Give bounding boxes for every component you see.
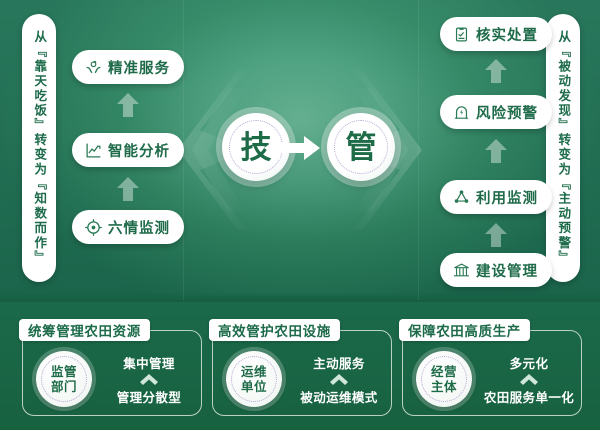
- bottom-box-circle[interactable]: 经营 主体: [416, 351, 472, 407]
- bottom-box-transition: 集中管理 管理分散型: [101, 351, 197, 407]
- card-smart-analysis[interactable]: 智能分析: [72, 133, 184, 167]
- bottom-box-production: 保障农田高质生产 经营 主体 多元化 农田服务单一化: [402, 330, 582, 416]
- hands-plant-icon: [85, 59, 102, 76]
- card-label: 风险预警: [476, 102, 538, 123]
- banner-left-text: 从『靠天吃饭』转变为『知数而作』: [33, 30, 46, 265]
- section-divider: [0, 292, 600, 302]
- target-icon: [85, 219, 102, 236]
- bottom-box-title: 统筹管理农田资源: [19, 319, 150, 341]
- bottom-box-circle[interactable]: 监管 部门: [36, 351, 92, 407]
- card-utilization-monitoring[interactable]: 利用监测: [440, 180, 552, 214]
- current-state-label: 农田服务单一化: [484, 387, 574, 406]
- card-six-condition-monitoring[interactable]: 六情监测: [72, 210, 184, 244]
- circle-line-2: 单位: [241, 380, 267, 394]
- circle-line-1: 运维: [241, 365, 267, 379]
- card-label: 精准服务: [108, 57, 170, 78]
- circle-line-2: 主体: [431, 380, 457, 394]
- up-arrow-icon: [115, 92, 141, 118]
- bottom-box-facilities: 高效管护农田设施 运维 单位 主动服务 被动运维模式: [212, 330, 392, 416]
- bottom-box-title: 高效管护农田设施: [209, 319, 340, 341]
- up-arrow-icon: [483, 138, 509, 164]
- circle-line-1: 监管: [51, 365, 77, 379]
- banner-left: 从『靠天吃饭』转变为『知数而作』: [22, 14, 56, 282]
- line-chart-icon: [85, 142, 102, 159]
- current-state-label: 管理分散型: [117, 387, 182, 406]
- target-state-label: 集中管理: [123, 353, 175, 372]
- bottom-box-circle[interactable]: 运维 单位: [226, 351, 282, 407]
- bottom-box-transition: 多元化 农田服务单一化: [481, 351, 577, 407]
- recycle-nodes-icon: [453, 189, 470, 206]
- double-arrow-icon: [262, 133, 322, 163]
- banner-right-text: 从『被动发现』转变为『主动预警』: [557, 30, 570, 265]
- clipboard-check-icon: [453, 26, 470, 43]
- card-construction-management[interactable]: 建设管理: [440, 253, 552, 287]
- bottom-box-title: 保障农田高质生产: [399, 319, 530, 341]
- card-label: 六情监测: [108, 217, 170, 238]
- card-verify-disposal[interactable]: 核实处置: [440, 17, 552, 51]
- chevron-up-icon: [329, 373, 349, 386]
- card-label: 利用监测: [476, 187, 538, 208]
- current-state-label: 被动运维模式: [300, 387, 377, 406]
- card-label: 核实处置: [476, 24, 538, 45]
- chevron-up-icon: [139, 373, 159, 386]
- circle-line-2: 部门: [51, 380, 77, 394]
- chevron-up-icon: [519, 373, 539, 386]
- up-arrow-icon: [483, 222, 509, 248]
- card-label: 智能分析: [108, 140, 170, 161]
- shield-bolt-icon: [453, 104, 470, 121]
- bank-building-icon: [453, 262, 470, 279]
- card-label: 建设管理: [476, 260, 538, 281]
- card-risk-warning[interactable]: 风险预警: [440, 95, 552, 129]
- banner-right: 从『被动发现』转变为『主动预警』: [546, 14, 580, 282]
- card-precise-service[interactable]: 精准服务: [72, 50, 184, 84]
- target-state-label: 主动服务: [313, 353, 365, 372]
- up-arrow-icon: [483, 58, 509, 84]
- circle-line-1: 经营: [431, 365, 457, 379]
- bottom-box-resources: 统筹管理农田资源 监管 部门 集中管理 管理分散型: [22, 330, 202, 416]
- up-arrow-icon: [115, 176, 141, 202]
- infographic-canvas: 从『靠天吃饭』转变为『知数而作』 从『被动发现』转变为『主动预警』 精准服务: [0, 0, 600, 430]
- target-state-label: 多元化: [510, 353, 549, 372]
- center-badge-management[interactable]: 管: [327, 113, 395, 181]
- bottom-box-transition: 主动服务 被动运维模式: [291, 351, 387, 407]
- badge-character: 管: [346, 132, 377, 163]
